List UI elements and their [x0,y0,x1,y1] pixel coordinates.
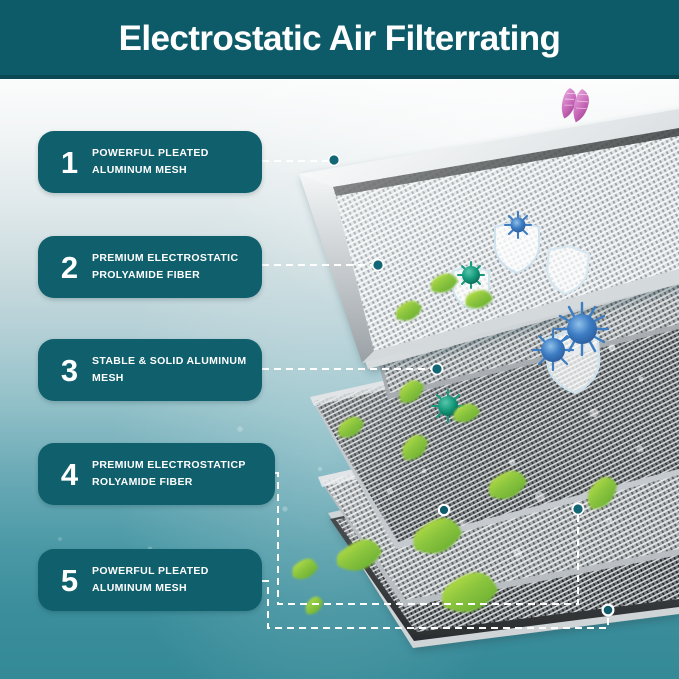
page-title: Electrostatic Air Filterrating [119,21,561,56]
layer-callout-2[interactable]: 2 PREMIUM ELECTROSTATIC PROLYAMIDE FIBER [38,236,262,298]
layer-line2-2: PROLYAMIDE FIBER [92,267,238,284]
header-banner: Electrostatic Air Filterrating [0,0,679,79]
layer-callout-1[interactable]: 1 POWERFUL PLEATED ALUMINUM MESH [38,131,262,193]
layer-description-2: PREMIUM ELECTROSTATIC PROLYAMIDE FIBER [92,250,248,284]
layer-line2-4: ROLYAMIDE FIBER [92,474,246,491]
layer-line1-2: PREMIUM ELECTROSTATIC [92,250,238,267]
layer-number-3: 3 [46,355,92,386]
layer-line2-3: MESH [92,370,246,387]
layer-line1-5: POWERFUL PLEATED [92,563,209,580]
layer-description-1: POWERFUL PLEATED ALUMINUM MESH [92,145,219,179]
header-divider [0,75,679,79]
layer-number-4: 4 [46,459,92,490]
infographic-canvas: Electrostatic Air Filterrating 1 POWERFU… [0,0,679,679]
layer-line2-1: ALUMINUM MESH [92,162,209,179]
layer-callout-4[interactable]: 4 PREMIUM ELECTROSTATICP ROLYAMIDE FIBER [38,443,275,505]
layer-line2-5: ALUMINUM MESH [92,580,209,597]
layer-description-5: POWERFUL PLEATED ALUMINUM MESH [92,563,219,597]
layer-number-5: 5 [46,565,92,596]
layer-callout-3[interactable]: 3 STABLE & SOLID ALUMINUM MESH [38,339,262,401]
layer-callout-5[interactable]: 5 POWERFUL PLEATED ALUMINUM MESH [38,549,262,611]
layer-line1-4: PREMIUM ELECTROSTATICP [92,457,246,474]
layer-line1-1: POWERFUL PLEATED [92,145,209,162]
layer-number-1: 1 [46,147,92,178]
layer-line1-3: STABLE & SOLID ALUMINUM [92,353,246,370]
layer-number-2: 2 [46,252,92,283]
layer-description-4: PREMIUM ELECTROSTATICP ROLYAMIDE FIBER [92,457,256,491]
layer-description-3: STABLE & SOLID ALUMINUM MESH [92,353,256,387]
